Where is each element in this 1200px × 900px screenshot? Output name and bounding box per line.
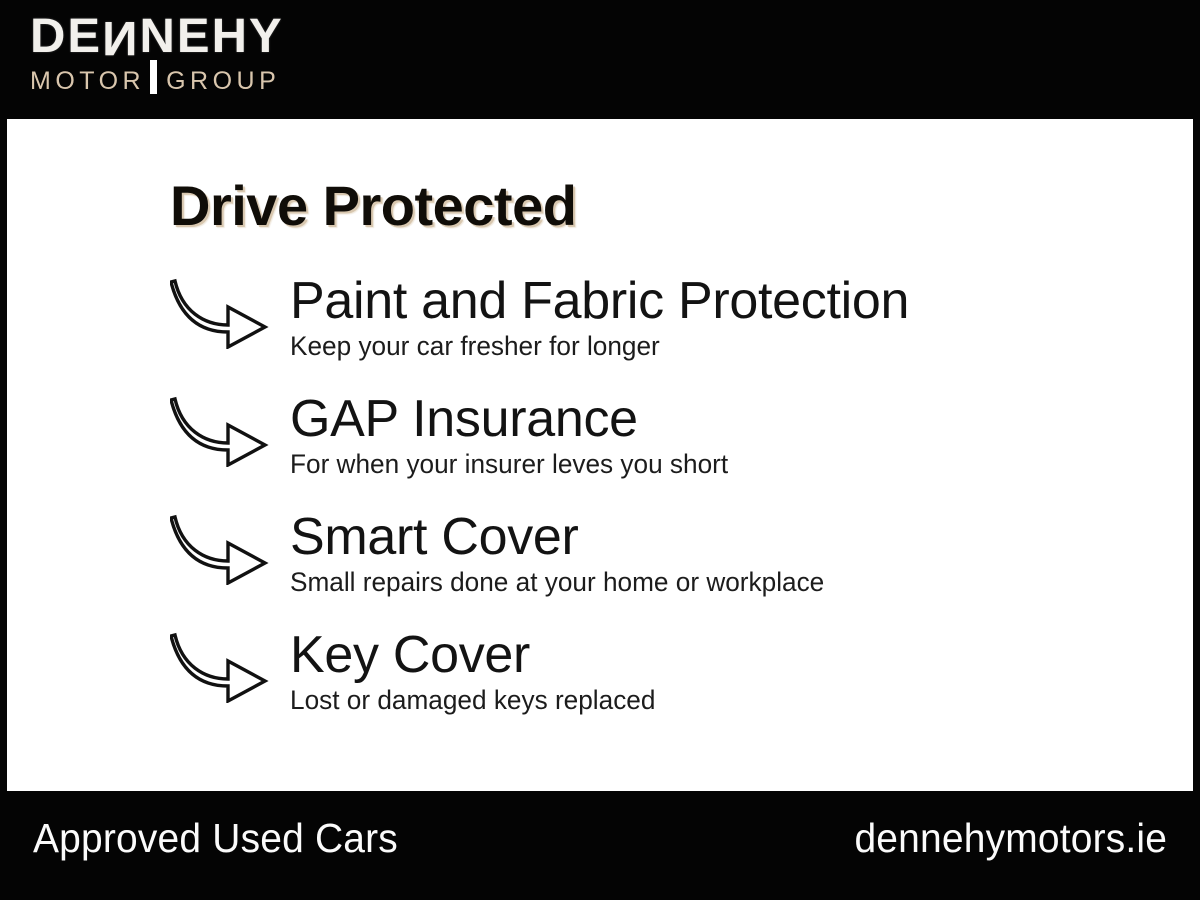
wordmark-segment-3: EHY (177, 10, 284, 63)
wordmark-segment-2: N (140, 10, 177, 63)
promo-banner: DENNEHY MOTORGROUP Drive Protected Paint… (0, 0, 1200, 900)
feature-subtitle: Keep your car fresher for longer (290, 330, 1166, 362)
list-item-text: Smart Cover Small repairs done at your h… (290, 507, 1193, 598)
feature-title: Paint and Fabric Protection (290, 271, 1193, 331)
feature-subtitle: For when your insurer leves you short (290, 448, 1166, 480)
list-item: Key Cover Lost or damaged keys replaced (7, 625, 1193, 743)
wordmark-segment-1: DE (30, 10, 102, 63)
curved-arrow-right-icon (170, 395, 270, 467)
curved-arrow-right-icon (170, 513, 270, 585)
content-panel: Drive Protected Paint and Fabric Protect… (7, 119, 1193, 791)
curved-arrow-right-icon (170, 277, 270, 349)
brand-subtitle: MOTORGROUP (30, 64, 330, 94)
feature-subtitle: Small repairs done at your home or workp… (290, 566, 1166, 598)
brand-subtitle-motor: MOTOR (30, 66, 145, 96)
banner-footer: Approved Used Cars dennehymotors.ie (0, 791, 1200, 900)
curved-arrow-right-icon (170, 631, 270, 703)
list-item: GAP Insurance For when your insurer leve… (7, 389, 1193, 507)
feature-title: GAP Insurance (290, 389, 1193, 449)
website-url-label[interactable]: dennehymotors.ie (854, 814, 1167, 862)
list-item: Paint and Fabric Protection Keep your ca… (7, 271, 1193, 389)
page-title: Drive Protected (170, 175, 576, 237)
brand-wordmark: DENNEHY (30, 12, 336, 62)
feature-subtitle: Lost or damaged keys replaced (290, 684, 1166, 716)
feature-title: Key Cover (290, 625, 1193, 685)
brand-subtitle-group: GROUP (166, 66, 280, 96)
feature-title: Smart Cover (290, 507, 1193, 567)
brand-divider-bar (150, 60, 157, 94)
list-item-text: Paint and Fabric Protection Keep your ca… (290, 271, 1193, 362)
list-item-text: GAP Insurance For when your insurer leve… (290, 389, 1193, 480)
list-item-text: Key Cover Lost or damaged keys replaced (290, 625, 1193, 716)
feature-list: Paint and Fabric Protection Keep your ca… (7, 271, 1193, 743)
list-item: Smart Cover Small repairs done at your h… (7, 507, 1193, 625)
wordmark-flipped-n: N (102, 12, 139, 62)
approved-used-cars-label: Approved Used Cars (33, 814, 398, 862)
banner-header: DENNEHY MOTORGROUP (0, 0, 1200, 119)
brand-logo[interactable]: DENNEHY MOTORGROUP (30, 12, 330, 94)
